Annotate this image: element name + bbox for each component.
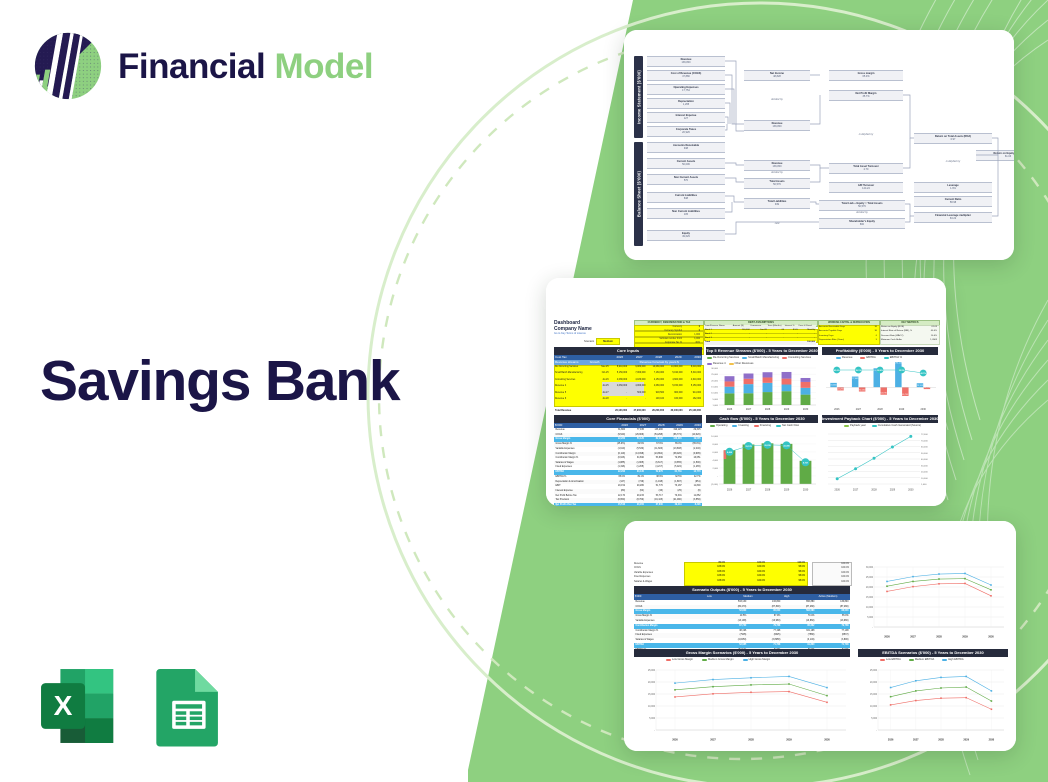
svg-text:25,000: 25,000 xyxy=(866,577,874,579)
svg-text:2028: 2028 xyxy=(877,408,883,411)
svg-text:31,800: 31,800 xyxy=(830,384,837,386)
gross-margin-scenarios-title: Gross Margin Scenarios ($'000) - 5 Years… xyxy=(634,649,850,657)
svg-text:2026: 2026 xyxy=(727,489,733,492)
top5-legend: Re-Occurring Services Small Batch Manufa… xyxy=(707,356,819,365)
currency-row-values: $ $ 1,000 1,000 30% xyxy=(684,325,700,345)
scenario-selector[interactable]: Medium xyxy=(596,338,620,345)
wc-rows: Accounts Receivable Days30 Accounts Paya… xyxy=(819,326,877,343)
svg-text:10,000: 10,000 xyxy=(648,706,656,708)
svg-text:190,125: 190,125 xyxy=(895,362,903,364)
profitability-legend: Revenue EBITDA EBITDA % xyxy=(836,356,902,359)
svg-text:1,000: 1,000 xyxy=(921,484,927,486)
svg-text:2026: 2026 xyxy=(835,489,841,492)
svg-text:10,000: 10,000 xyxy=(870,706,878,708)
svg-text:72,000: 72,000 xyxy=(921,434,928,436)
investment-payback-chart: 1,00010,00020,00030,00040,00050,00060,00… xyxy=(822,430,938,492)
svg-text:10,000: 10,000 xyxy=(711,436,718,438)
svg-text:20,000: 20,000 xyxy=(921,472,928,474)
svg-text:25,000: 25,000 xyxy=(870,670,878,672)
svg-text:15,000: 15,000 xyxy=(870,694,878,696)
svg-text:2026: 2026 xyxy=(888,739,894,742)
svg-text:22,280: 22,280 xyxy=(783,445,790,447)
svg-text:40,000: 40,000 xyxy=(921,459,928,461)
svg-text:2027: 2027 xyxy=(746,408,752,411)
svg-text:2029: 2029 xyxy=(962,636,968,639)
svg-text:2028: 2028 xyxy=(765,489,771,492)
svg-text:77,045: 77,045 xyxy=(852,378,859,380)
svg-text:5,000: 5,000 xyxy=(713,399,719,401)
scenario-overview-chart: -5,00010,00015,00020,00025,00030,0002026… xyxy=(858,561,1008,639)
svg-text:52,976: 52,976 xyxy=(881,393,888,395)
svg-text:2027: 2027 xyxy=(856,408,862,411)
scenario-active-values: 100.0% 100.0% 100.0% 100.0% 100.0% xyxy=(813,562,849,584)
core-financials-header: Core Financials ($'000) xyxy=(554,415,702,423)
svg-text:15,000: 15,000 xyxy=(648,694,656,696)
svg-text:2028: 2028 xyxy=(938,739,944,742)
ebitda-scenarios-title: EBITDA Scenarios ($'000) - 5 Years to De… xyxy=(858,649,1008,657)
gross-margin-scenarios-chart: -5,00010,00015,00020,00025,0002026202720… xyxy=(634,664,850,742)
svg-text:30,000: 30,000 xyxy=(866,567,874,569)
svg-text:5,000: 5,000 xyxy=(649,718,655,720)
scenario-outputs-body: Revenue533,130136,800656,880136,800COGS(… xyxy=(634,600,850,652)
payback-legend: Payback year Cumulative Cash Generated (… xyxy=(844,424,921,427)
svg-text:25,000: 25,000 xyxy=(711,374,718,376)
svg-text:5,000: 5,000 xyxy=(867,617,873,619)
dashboard-card[interactable]: Dashboard Company Name Go to Key Terms o… xyxy=(546,278,946,506)
scenario-outputs-title: Scenario Outputs ($'000) - 5 Years to De… xyxy=(634,586,850,594)
svg-text:2029: 2029 xyxy=(890,489,896,492)
svg-text:8,466: 8,466 xyxy=(727,451,733,454)
svg-text:2030: 2030 xyxy=(989,739,995,742)
svg-text:10,000: 10,000 xyxy=(866,607,874,609)
svg-text:15,178: 15,178 xyxy=(745,446,752,448)
svg-text:2028: 2028 xyxy=(871,489,877,492)
svg-text:5,000: 5,000 xyxy=(871,718,877,720)
svg-text:8,707: 8,707 xyxy=(803,462,809,464)
svg-text:2030: 2030 xyxy=(803,489,809,492)
microsoft-excel-icon[interactable]: X xyxy=(34,662,122,750)
financial-model-circle-chart-logo xyxy=(32,30,104,102)
svg-text:30,000: 30,000 xyxy=(921,465,928,467)
ebitda-legend: Low EBITDA Medium EBITDA High EBITDA xyxy=(880,658,964,661)
svg-text:2027: 2027 xyxy=(853,489,859,492)
debt-row-text: Bank 1 100,000 Jan-26 60 8.5% Monthly Ba… xyxy=(705,329,815,345)
scenario-assumption-values: 80.0% 100.0% 110.0% 105.0% 100.0% 95.0% … xyxy=(685,562,805,584)
svg-text:30,130: 30,130 xyxy=(859,390,866,392)
svg-text:2027: 2027 xyxy=(710,739,716,742)
svg-text:2030: 2030 xyxy=(921,408,927,411)
slide-canvas: Financial Model Savings Bank X xyxy=(0,0,1048,782)
svg-text:2030: 2030 xyxy=(824,739,830,742)
svg-text:-: - xyxy=(717,476,718,478)
svg-text:32.5%: 32.5% xyxy=(899,370,905,372)
svg-text:2026: 2026 xyxy=(727,408,733,411)
core-inputs-header: Core Inputs xyxy=(554,347,702,355)
svg-text:2027: 2027 xyxy=(746,489,752,492)
google-sheets-icon[interactable] xyxy=(144,662,232,750)
svg-text:61,761: 61,761 xyxy=(902,394,909,396)
svg-text:70,000: 70,000 xyxy=(921,440,928,442)
cash-flow-legend: Operating Investing Financing Net Cash F… xyxy=(710,424,799,427)
dashboard-subtitle: Go to Key Terms of Licence xyxy=(554,332,592,336)
brand-name-part1: Financial xyxy=(118,47,274,86)
svg-text:29,315: 29,315 xyxy=(917,385,924,387)
svg-text:-: - xyxy=(872,627,873,629)
svg-text:15,000: 15,000 xyxy=(866,597,874,599)
svg-text:22,290: 22,290 xyxy=(837,388,844,390)
brand-logo: Financial Model xyxy=(32,30,373,102)
svg-text:2026: 2026 xyxy=(834,408,840,411)
gross-margin-legend: Low Gross Margin Medium Gross Margin Hig… xyxy=(666,658,770,661)
svg-text:2026: 2026 xyxy=(672,739,678,742)
svg-text:1,000: 1,000 xyxy=(713,405,719,407)
brand-name: Financial Model xyxy=(118,49,373,84)
cash-flow-title: Cash flow ($'000) - 5 Years to December … xyxy=(706,415,818,423)
core-financials-body: Revenue31,80077,045136,290190,12529,315C… xyxy=(554,428,702,506)
ebitda-scenarios-chart: -5,00010,00015,00020,00025,0002026202720… xyxy=(858,664,1008,742)
top-5-revenue-streams-title: Top 5 Revenue Streams ($'000) - 5 Years … xyxy=(706,347,818,355)
brand-name-part2: Model xyxy=(274,47,373,86)
svg-text:2029: 2029 xyxy=(899,408,905,411)
top-5-revenue-streams-chart: 1,0005,00010,00015,00020,00025,00030,000… xyxy=(706,366,818,411)
dupont-connectors xyxy=(624,30,1014,260)
dashboard-header: Dashboard Company Name Go to Key Terms o… xyxy=(554,320,592,336)
svg-text:15,000: 15,000 xyxy=(711,387,718,389)
svg-text:2028: 2028 xyxy=(765,408,771,411)
app-icons: X xyxy=(34,662,232,750)
cash-flow-chart: (2,000)-2,0004,0006,0008,00010,000202620… xyxy=(706,430,818,492)
left-content-panel: Financial Model Savings Bank X xyxy=(0,0,470,782)
svg-text:20,000: 20,000 xyxy=(866,587,874,589)
svg-text:50,000: 50,000 xyxy=(921,453,928,455)
core-inputs-total-row: Total Revenue 26,160,000 27,900,000 28,2… xyxy=(555,409,701,412)
scenario-label: Scenario xyxy=(584,340,594,343)
svg-text:20,230: 20,230 xyxy=(764,445,771,447)
svg-text:2030: 2030 xyxy=(988,636,994,639)
svg-text:20,000: 20,000 xyxy=(870,682,878,684)
svg-text:2027: 2027 xyxy=(913,739,919,742)
svg-text:39.1%: 39.1% xyxy=(856,370,862,372)
dupont-analysis-card[interactable]: Income Statement ($'000) Balance Sheet (… xyxy=(624,30,1014,260)
scenario-card[interactable]: Revenue COGS Variable Expenses Fixed Exp… xyxy=(624,521,1016,751)
profitability-title: Profitability ($'000) - 5 Years to Decem… xyxy=(822,347,938,355)
svg-text:10,000: 10,000 xyxy=(921,478,928,480)
svg-text:2028: 2028 xyxy=(936,636,942,639)
svg-text:2027: 2027 xyxy=(910,636,916,639)
svg-text:65.0%: 65.0% xyxy=(834,370,840,372)
svg-text:2,000: 2,000 xyxy=(713,468,719,470)
svg-text:(2,000): (2,000) xyxy=(711,484,718,486)
page-title: Savings Bank xyxy=(40,352,399,412)
svg-text:2029: 2029 xyxy=(784,408,790,411)
core-inputs-rows: Re-Occurring Services Nov-25 8,910,000 9… xyxy=(555,366,701,404)
svg-text:2030: 2030 xyxy=(803,408,809,411)
svg-text:20,000: 20,000 xyxy=(711,380,718,382)
svg-text:30,000: 30,000 xyxy=(711,368,718,370)
svg-text:20,000: 20,000 xyxy=(648,682,656,684)
svg-text:X: X xyxy=(54,690,73,721)
svg-text:60,000: 60,000 xyxy=(921,447,928,449)
svg-text:25,000: 25,000 xyxy=(648,670,656,672)
table-row: Net Profit After Tax15,51020,45037,60049… xyxy=(554,503,702,506)
svg-text:10,000: 10,000 xyxy=(711,393,718,395)
svg-text:2029: 2029 xyxy=(963,739,969,742)
metric-rows: Return on Equity (ROE)61.03 Internal Rat… xyxy=(881,326,937,343)
svg-text:2030: 2030 xyxy=(908,489,914,492)
svg-text:42.7%: 42.7% xyxy=(920,372,926,375)
profitability-chart: 31,80022,290202677,04530,1302027136,2905… xyxy=(822,362,938,411)
svg-text:4,000: 4,000 xyxy=(713,460,719,462)
svg-text:2029: 2029 xyxy=(784,489,790,492)
svg-text:2026: 2026 xyxy=(884,636,890,639)
svg-text:6,000: 6,000 xyxy=(713,452,719,454)
investment-payback-title: Investment Payback Chart ($'000) - 5 Yea… xyxy=(822,415,938,423)
svg-text:2028: 2028 xyxy=(748,739,754,742)
svg-text:-: - xyxy=(876,730,877,732)
svg-text:38.9%: 38.9% xyxy=(877,370,883,372)
svg-text:-: - xyxy=(654,730,655,732)
svg-text:2029: 2029 xyxy=(786,739,792,742)
svg-text:8,000: 8,000 xyxy=(713,444,719,446)
